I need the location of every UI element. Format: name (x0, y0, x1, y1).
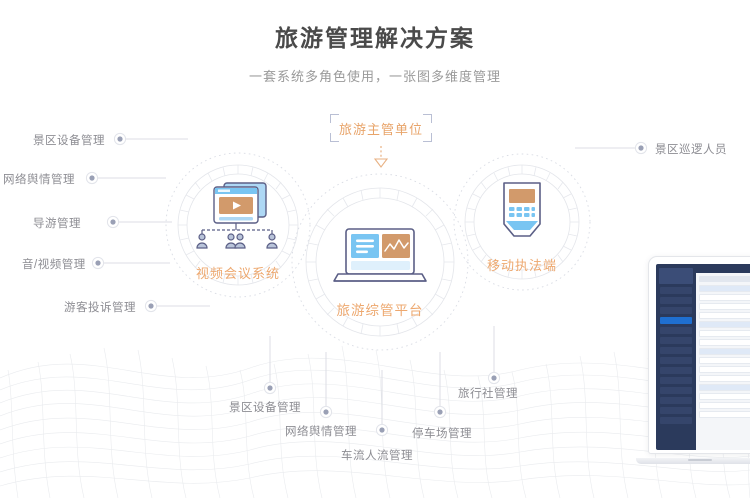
mock-sidebar (656, 264, 696, 450)
mock-main-panel (696, 264, 750, 450)
leaf-label-bottom-0[interactable]: 景区设备管理 (229, 399, 301, 415)
mock-sidebar-item (660, 397, 692, 404)
page-subtitle: 一套系统多角色使用，一张图多维度管理 (0, 66, 750, 85)
bottom-connectors (270, 326, 494, 426)
leaf-label-left-2[interactable]: 导游管理 (33, 215, 81, 231)
mock-filter-bar (699, 276, 750, 282)
laptop-trackpad-notch (688, 459, 712, 461)
leaf-label-bottom-4[interactable]: 旅行社管理 (458, 385, 518, 401)
mock-row (699, 348, 750, 355)
node-label-tourism-platform: 旅游综管平台 (320, 299, 440, 319)
node-label-video-conference: 视频会议系统 (178, 263, 298, 282)
mock-sidebar-item (660, 407, 692, 414)
node-video-conference[interactable]: 视频会议系统 (178, 178, 298, 282)
mock-row (699, 411, 750, 418)
leaf-label-right-0[interactable]: 景区巡逻人员 (655, 141, 727, 157)
solution-diagram-page: 旅游管理解决方案 一套系统多角色使用，一张图多维度管理 (0, 0, 750, 498)
node-tourism-platform[interactable]: 旅游综管平台 (320, 226, 440, 319)
mock-sidebar-item (660, 347, 692, 354)
gov-to-platform-arrow (375, 146, 387, 167)
mock-row (699, 285, 750, 292)
mock-row (699, 402, 750, 409)
mock-sidebar-item (660, 307, 692, 314)
mock-row (699, 339, 750, 346)
handheld-terminal-icon (472, 180, 572, 244)
mock-row (699, 384, 750, 391)
mock-sidebar-item (660, 417, 692, 424)
laptop-lid (648, 256, 750, 454)
leaf-label-left-3[interactable]: 音/视频管理 (22, 256, 86, 272)
mock-sidebar-item (660, 377, 692, 384)
page-header: 旅游管理解决方案 一套系统多角色使用，一张图多维度管理 (0, 24, 750, 85)
mock-sidebar-item (660, 337, 692, 344)
node-label-mobile-enforcement: 移动执法端 (472, 255, 572, 274)
gov-authority-label: 旅游主管单位 (339, 119, 423, 138)
leaf-label-bottom-2[interactable]: 车流人流管理 (341, 447, 413, 463)
dashboard-screenshot (656, 264, 750, 450)
mock-sidebar-item (660, 287, 692, 294)
corner-bracket-br (423, 133, 432, 142)
mock-row (699, 375, 750, 382)
mock-topbar (696, 264, 750, 273)
mock-row (699, 330, 750, 337)
corner-bracket-tr (423, 114, 432, 123)
mock-row (699, 357, 750, 364)
corner-bracket-bl (330, 133, 339, 142)
mock-sidebar-item (660, 387, 692, 394)
corner-bracket-tl (330, 114, 339, 123)
mock-sidebar-item-active (660, 317, 692, 324)
video-window-icon (178, 178, 298, 252)
mock-sidebar-item (660, 297, 692, 304)
node-mobile-enforcement[interactable]: 移动执法端 (472, 180, 572, 274)
mock-sidebar-item (660, 357, 692, 364)
mock-brand (659, 268, 693, 284)
page-title: 旅游管理解决方案 (0, 24, 750, 54)
laptop-dashboard-icon (320, 226, 440, 288)
leaf-label-left-0[interactable]: 景区设备管理 (33, 132, 105, 148)
mock-sidebar-item (660, 327, 692, 334)
mock-sidebar-item (660, 367, 692, 374)
laptop-product-mockup (636, 256, 750, 468)
leaf-label-bottom-3[interactable]: 停车场管理 (412, 425, 472, 441)
mock-row (699, 294, 750, 301)
mock-row (699, 321, 750, 328)
gov-authority-box[interactable]: 旅游主管单位 (330, 114, 432, 142)
mock-row (699, 366, 750, 373)
mock-row (699, 393, 750, 400)
leaf-label-bottom-1[interactable]: 网络舆情管理 (285, 423, 357, 439)
leaf-label-left-1[interactable]: 网络舆情管理 (3, 171, 75, 187)
leaf-label-left-4[interactable]: 游客投诉管理 (64, 299, 136, 315)
mock-row (699, 303, 750, 310)
mock-row (699, 312, 750, 319)
